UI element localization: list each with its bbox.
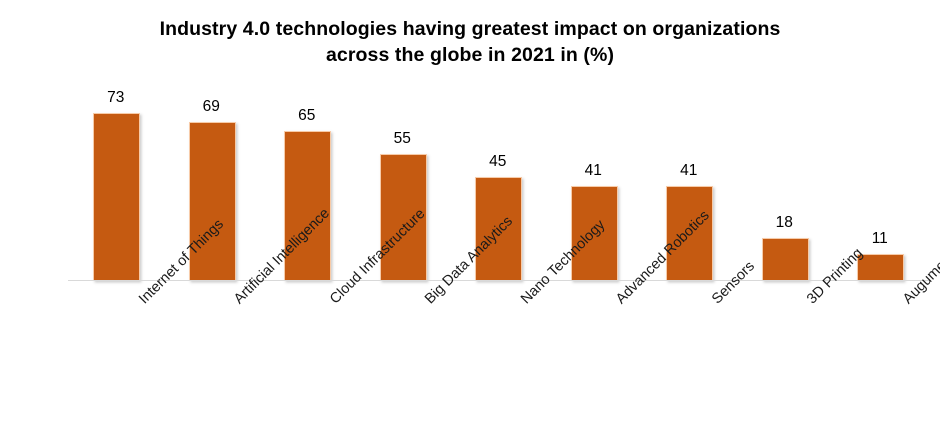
bar-slot — [68, 0, 164, 281]
bar-value-label: 45 — [450, 153, 546, 171]
bar-value-label: 41 — [546, 162, 642, 180]
category-label: Augumented Reality — [900, 296, 911, 307]
category-label: Big Data Analytics — [422, 296, 433, 307]
plot-area: 736965554541411811 — [0, 0, 940, 282]
category-labels: Internet of ThingsArtificial Intelligenc… — [0, 282, 940, 445]
bar-value-label: 65 — [259, 107, 355, 125]
bar-value-label: 41 — [641, 162, 737, 180]
bar-chart: Industry 4.0 technologies having greates… — [0, 0, 940, 445]
category-label: Artificial Intelligence — [231, 296, 242, 307]
category-label: Nano Technology — [518, 296, 529, 307]
bar-value-label: 73 — [68, 89, 164, 107]
bar-value-label: 55 — [355, 130, 451, 148]
bar[interactable] — [762, 238, 809, 281]
category-label: Internet of Things — [136, 296, 147, 307]
bar[interactable] — [93, 113, 140, 281]
bar-value-label: 11 — [832, 230, 928, 248]
bar-slot — [737, 0, 833, 281]
bars-layer: 736965554541411811 — [0, 0, 940, 281]
bar-value-label: 69 — [164, 98, 260, 116]
category-label: Sensors — [709, 296, 720, 307]
category-label: Advanced Robotics — [613, 296, 624, 307]
category-label: 3D Printing — [804, 296, 815, 307]
category-label: Cloud Infrastructure — [327, 296, 338, 307]
x-axis-line — [68, 280, 930, 281]
bar-value-label: 18 — [737, 214, 833, 232]
